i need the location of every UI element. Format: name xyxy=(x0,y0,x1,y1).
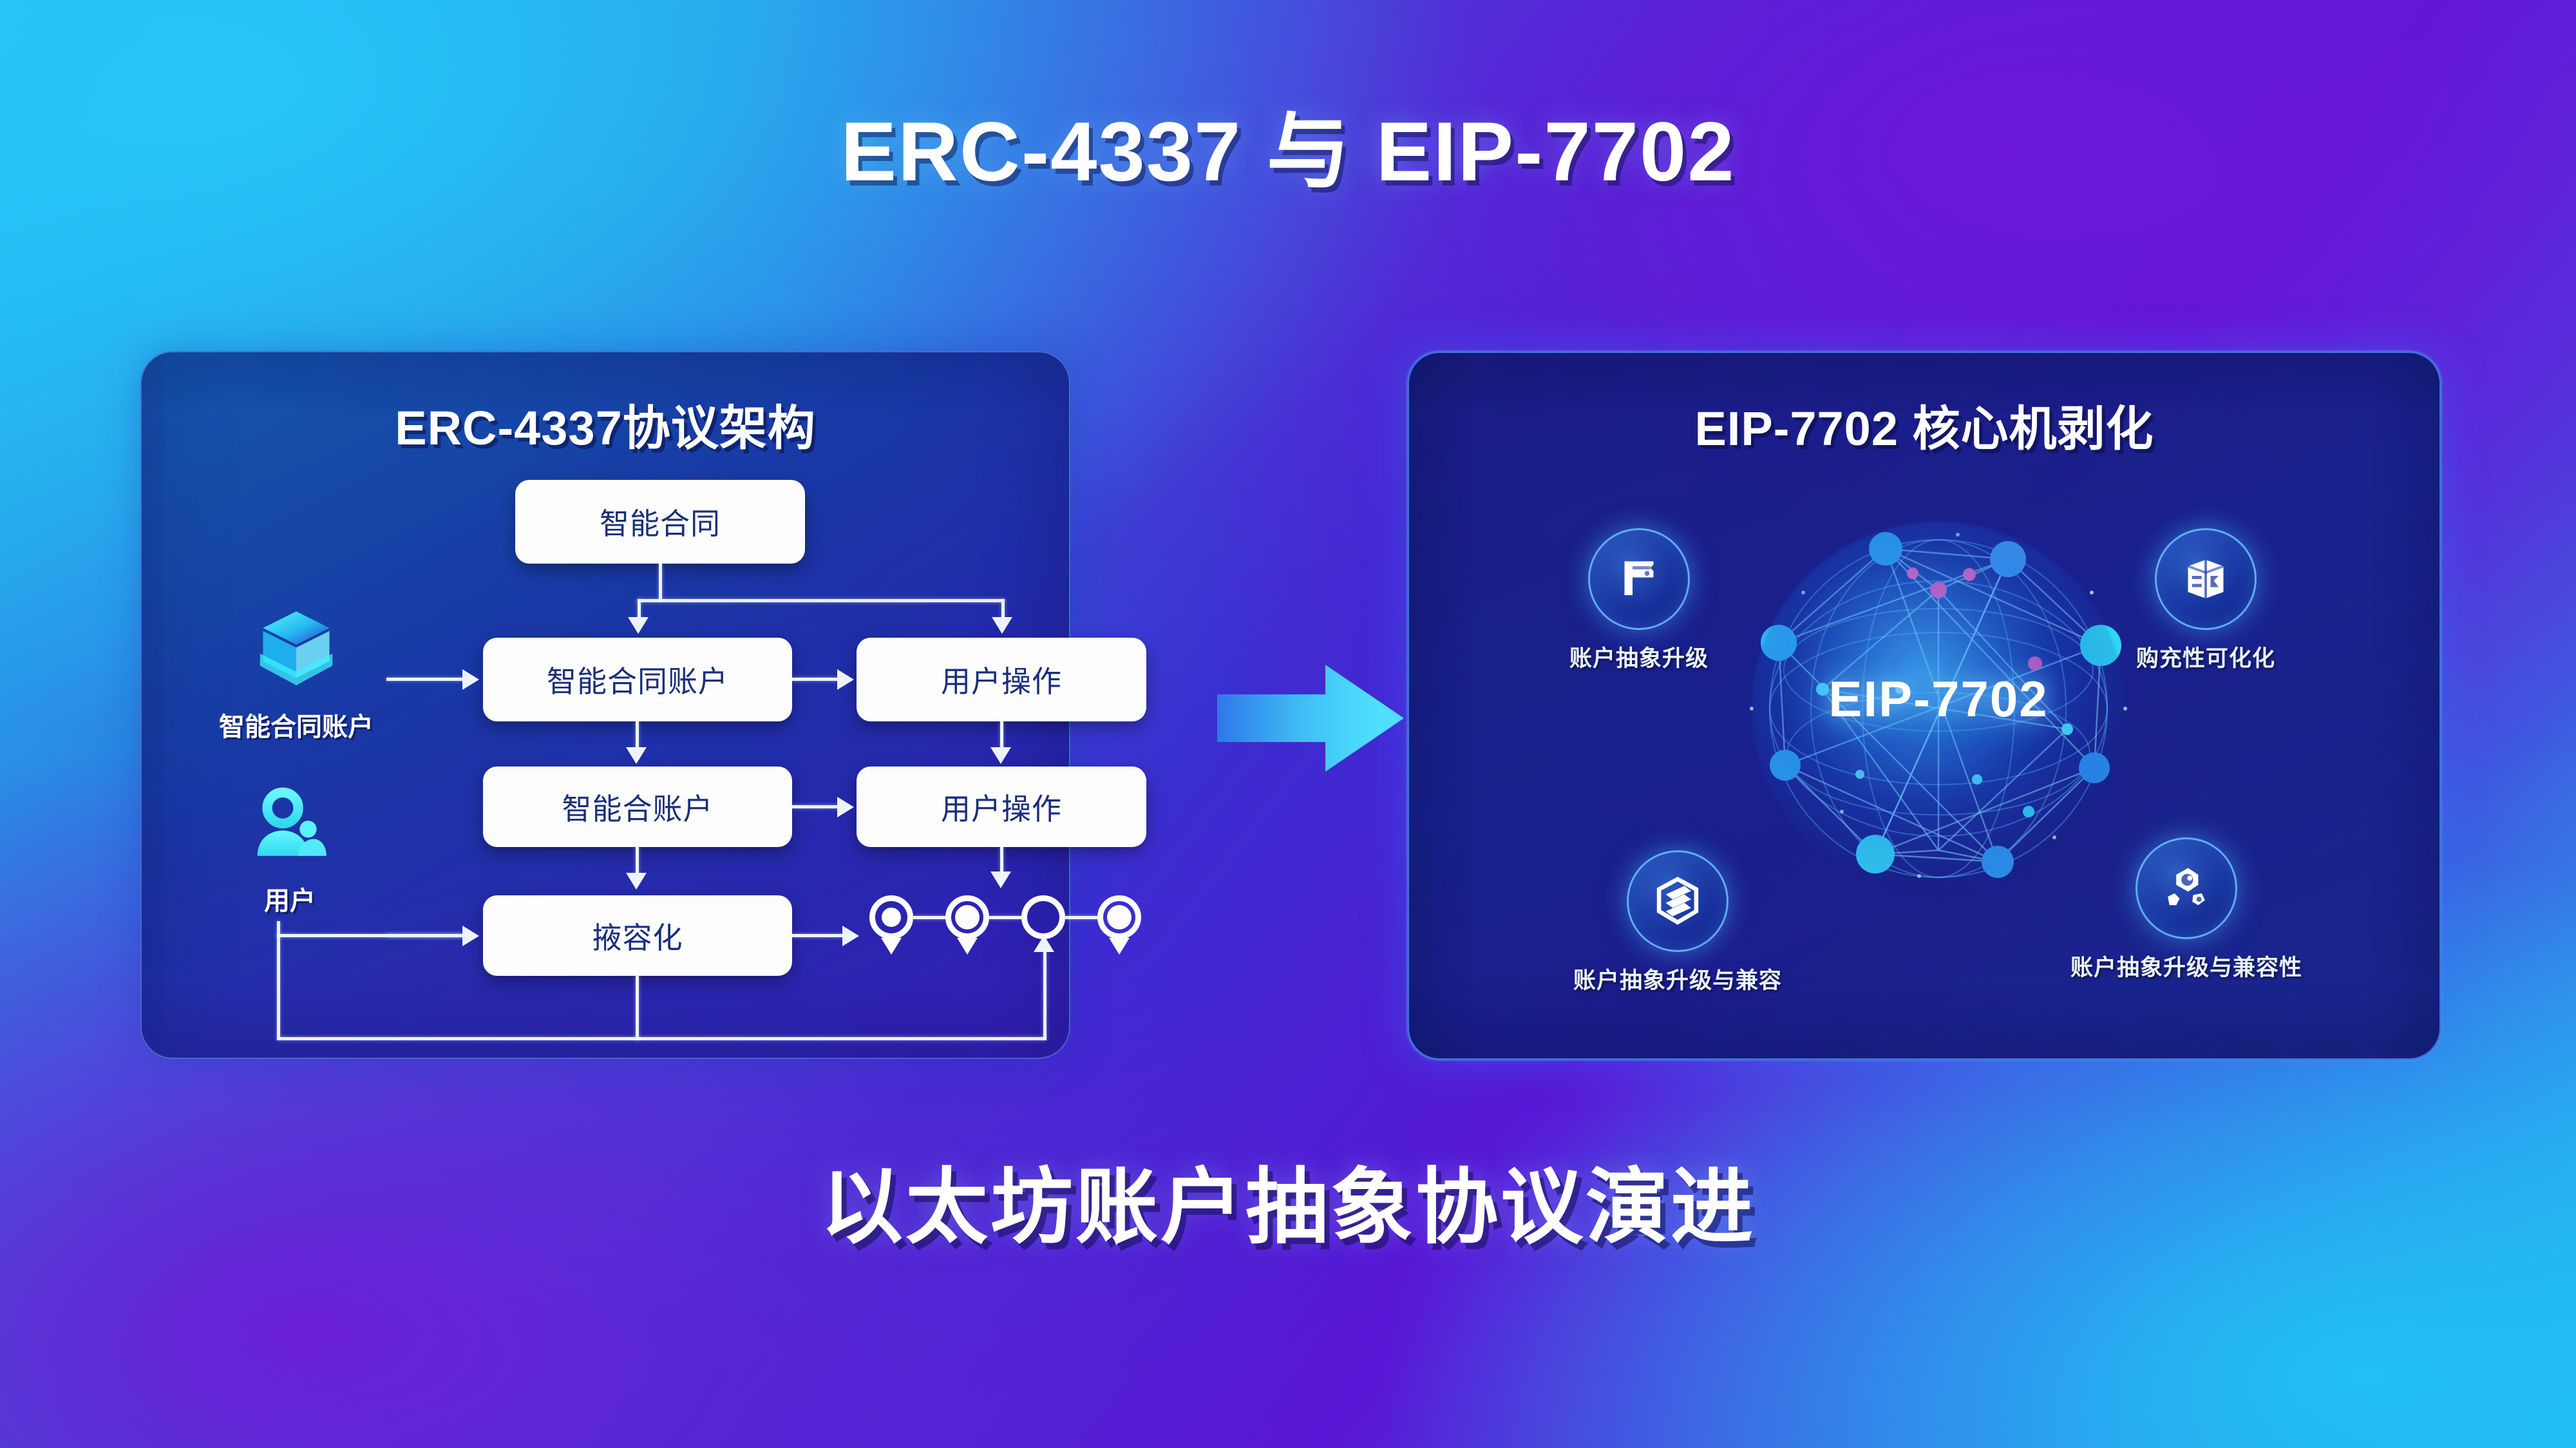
chain-link-3-4 xyxy=(1065,916,1097,919)
left-panel-title: ERC-4337协议架构 xyxy=(142,390,1069,459)
flag-icon xyxy=(1613,553,1665,605)
user-icon xyxy=(245,783,335,873)
connector-sca-to-uo1 xyxy=(792,678,838,681)
transition-arrow xyxy=(1217,657,1410,779)
feature-bottom-left[interactable]: 账户抽象升级与兼容 xyxy=(1542,850,1813,995)
side-label-user: 用户 xyxy=(193,880,386,917)
arrow-uo2-down xyxy=(990,872,1011,888)
flow-box-smart-account[interactable]: 智能合账户 xyxy=(483,767,792,847)
feature-top-right-badge xyxy=(2155,528,2257,630)
connector-uo2-down xyxy=(1000,847,1003,873)
feedback-right-up xyxy=(1043,952,1046,1038)
arrow-compat-to-chain xyxy=(842,926,859,946)
flow-box-user-operation-2[interactable]: 用户操作 xyxy=(857,767,1146,847)
page-title: ERC-4337 与 EIP-7702 xyxy=(0,84,2576,205)
flow-box-user-operation-1[interactable]: 用户操作 xyxy=(857,638,1146,721)
feature-top-left[interactable]: 账户抽象升级 xyxy=(1504,528,1774,673)
chain-link-2-3 xyxy=(989,916,1021,919)
feedback-left-up xyxy=(277,921,280,1038)
feature-top-left-label: 账户抽象升级 xyxy=(1504,640,1774,673)
connector-sa-down xyxy=(636,847,639,874)
feature-bottom-left-label: 账户抽象升级与兼容 xyxy=(1542,962,1813,995)
connector-uo1-down xyxy=(1000,721,1003,748)
arrow-sca-down xyxy=(626,747,647,764)
arrow-sa-down xyxy=(626,873,647,890)
feedback-bottom xyxy=(277,1037,1046,1040)
connector-sa-to-uo2 xyxy=(792,805,838,808)
feature-top-right[interactable]: 购充性可化化 xyxy=(2070,528,2341,673)
connector-compat-to-chain xyxy=(792,934,844,937)
connector-sca-down xyxy=(636,721,639,748)
chain-node-4-pin xyxy=(1109,938,1130,955)
feature-bottom-right-badge xyxy=(2136,837,2237,939)
feature-bottom-left-badge xyxy=(1627,850,1728,952)
arrow-sa-to-uo2 xyxy=(837,797,854,817)
arrow-cube-to-sca xyxy=(462,669,479,690)
page-subtitle: 以太坊账户抽象协议演进 xyxy=(0,1140,2576,1259)
connector-bus-right xyxy=(1001,599,1005,618)
right-panel-title: EIP-7702 核心机剥化 xyxy=(1409,390,2439,459)
chain-node-1-pin xyxy=(881,938,902,955)
arrow-to-sca xyxy=(628,617,649,634)
flow-box-compatibility[interactable]: 掖容化 xyxy=(483,895,792,976)
connector-bus-left xyxy=(638,599,641,618)
chain-node-1-inner xyxy=(882,908,901,927)
chain-node-2-inner xyxy=(955,905,980,929)
right-arrow-icon xyxy=(1217,657,1410,779)
sphere-center-label: EIP-7702 xyxy=(1707,670,2170,729)
side-label-smart-contract-account: 智能合同账户 xyxy=(200,706,393,743)
connector-bus xyxy=(638,599,1005,602)
hex-layers-icon xyxy=(1651,874,1705,928)
feature-top-right-label: 购充性可化化 xyxy=(2070,640,2341,673)
feature-bottom-right-label: 账户抽象升级与兼容性 xyxy=(2051,949,2322,982)
arrow-feedback-into-compat xyxy=(462,926,479,946)
connector-cube-to-sca xyxy=(386,678,464,681)
chain-node-2-pin xyxy=(957,938,978,955)
feature-bottom-right[interactable]: 账户抽象升级与兼容性 xyxy=(2051,837,2322,982)
side-group-smart-contract-account: 智能合同账户 xyxy=(200,602,393,743)
side-group-user: 用户 xyxy=(193,783,386,917)
chain-node-1[interactable] xyxy=(869,895,913,939)
chain-node-4-inner xyxy=(1107,905,1132,929)
node-link-icon xyxy=(2159,861,2213,915)
flow-box-smart-contract[interactable]: 智能合同 xyxy=(515,480,805,564)
feedback-down-from-compat xyxy=(636,976,639,1040)
flow-box-smart-contract-account[interactable]: 智能合同账户 xyxy=(483,638,792,721)
chain-link-1-2 xyxy=(913,916,945,919)
arrow-uo1-down xyxy=(990,747,1011,764)
arrow-sca-to-uo1 xyxy=(837,669,854,690)
connector-user-to-compat xyxy=(386,934,462,937)
chain-node-2[interactable] xyxy=(945,895,989,939)
infographic-canvas: ERC-4337 与 EIP-7702 ERC-4337协议架构 智能合同账户 xyxy=(0,0,2576,1448)
open-cube-icon xyxy=(2180,553,2231,605)
chain-node-3[interactable] xyxy=(1021,895,1065,939)
chain-node-4[interactable] xyxy=(1097,895,1141,939)
cube-icon xyxy=(248,602,345,699)
connector-sc-down xyxy=(659,564,662,601)
arrow-to-uo1 xyxy=(992,617,1012,634)
feature-top-left-badge xyxy=(1588,528,1690,630)
